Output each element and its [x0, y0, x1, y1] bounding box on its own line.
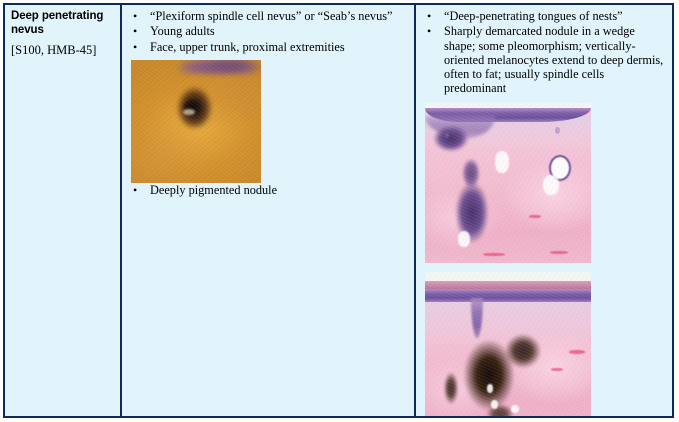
- immunostain-markers: [S100, HMB-45]: [11, 43, 114, 58]
- list-item: • “Deep-penetrating tongues of nests”: [422, 9, 666, 23]
- bullet-icon: •: [133, 183, 137, 197]
- clinical-photo-pigmented-nodule: [131, 60, 261, 183]
- histology-image-he-pigmented: [425, 272, 591, 416]
- list-item: • “Plexiform spindle cell nevus” or “Sea…: [128, 9, 408, 23]
- bullet-icon: •: [133, 24, 137, 38]
- clinical-caption-list: • Deeply pigmented nodule: [128, 183, 408, 197]
- bullet-icon: •: [427, 9, 431, 23]
- list-item: • Deeply pigmented nodule: [128, 183, 408, 197]
- histology-column: • “Deep-penetrating tongues of nests” • …: [416, 5, 672, 416]
- list-item-label: Face, upper trunk, proximal extremities: [150, 40, 345, 54]
- clinical-feature-list: • “Plexiform spindle cell nevus” or “Sea…: [128, 9, 408, 54]
- list-item: • Face, upper trunk, proximal extremitie…: [128, 40, 408, 54]
- histology-feature-list: • “Deep-penetrating tongues of nests” • …: [422, 9, 666, 96]
- list-item-label: Young adults: [150, 24, 215, 38]
- bullet-icon: •: [133, 40, 137, 54]
- list-item-label: Sharply demarcated nodule in a wedge sha…: [444, 24, 663, 95]
- histology-image-he-low-power: [425, 103, 591, 263]
- diagnosis-column: Deep penetrating nevus [S100, HMB-45]: [5, 5, 122, 416]
- photo-grain-texture: [131, 60, 261, 183]
- clinical-column: • “Plexiform spindle cell nevus” or “Sea…: [122, 5, 416, 416]
- list-item-label: Deeply pigmented nodule: [150, 183, 277, 197]
- bullet-icon: •: [133, 9, 137, 23]
- list-item-label: “Deep-penetrating tongues of nests”: [444, 9, 623, 23]
- slide-grain-texture: [425, 103, 591, 263]
- diagnosis-title: Deep penetrating nevus: [11, 10, 114, 37]
- list-item-label: “Plexiform spindle cell nevus” or “Seab’…: [150, 9, 392, 23]
- diagnosis-table: Deep penetrating nevus [S100, HMB-45] • …: [3, 3, 674, 418]
- list-item: • Young adults: [128, 24, 408, 38]
- list-item: • Sharply demarcated nodule in a wedge s…: [422, 24, 666, 95]
- slide-grain-texture: [425, 272, 591, 416]
- bullet-icon: •: [427, 24, 431, 38]
